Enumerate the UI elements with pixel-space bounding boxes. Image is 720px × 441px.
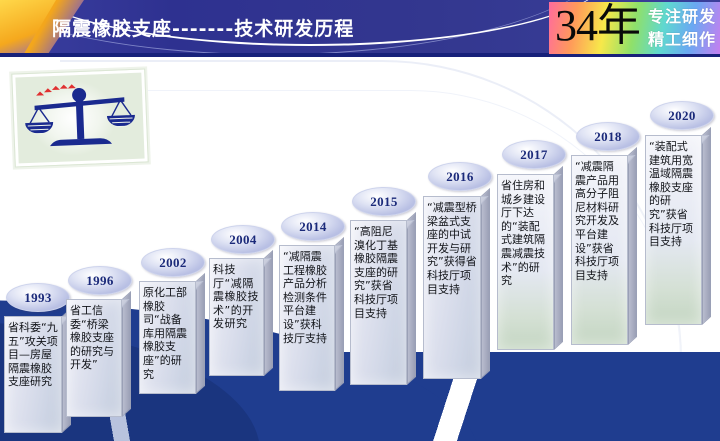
year-bubble-2016[interactable]: 2016 xyxy=(428,162,492,191)
year-label: 2018 xyxy=(594,129,622,145)
pillar-side xyxy=(407,212,416,385)
year-bubble-2004[interactable]: 2004 xyxy=(211,225,275,254)
pillar-text: “减隔震工程橡胶产品分析检测条件平台建设”获科技厅支持 xyxy=(283,250,331,345)
timeline-pillar-2002[interactable]: 原化工部橡胶司“战备库用隔震橡胶支座”的研究 xyxy=(139,281,196,394)
slide-canvas: 隔震橡胶支座-------技术研发历程 34年 专注研发 精工细作 xyxy=(0,0,720,441)
pillar-text: “减震隔震产品用高分子阻尼材料研究开发及平台建设”获省科技厅项目支持 xyxy=(575,160,624,282)
year-label: 1993 xyxy=(24,290,52,306)
year-bubble-2002[interactable]: 2002 xyxy=(141,248,205,277)
pillar-side xyxy=(481,188,490,379)
year-bubble-2015[interactable]: 2015 xyxy=(352,187,416,216)
year-label: 2020 xyxy=(668,108,696,124)
pillar-text: 省住房和城乡建设厅下达的“装配式建筑隔震减震技术”的研究 xyxy=(501,179,550,288)
year-label: 2004 xyxy=(229,232,257,248)
pillar-text: 省工信委“桥梁橡胶支座的研究与开发” xyxy=(70,304,118,372)
year-label: 2016 xyxy=(446,169,474,185)
timeline-pillar-2004[interactable]: 科技厅“减隔震橡胶技术”的开发研究 xyxy=(209,258,264,376)
pillar-text: “装配式建筑用宽温域隔震橡胶支座的研究”获省科技厅项目支持 xyxy=(649,140,698,249)
year-label: 2017 xyxy=(520,147,548,163)
timeline-pillar-1996[interactable]: 省工信委“桥梁橡胶支座的研究与开发” xyxy=(66,299,122,417)
badge-slogan: 专注研发 精工细作 xyxy=(648,5,716,51)
timeline-pillar-2016[interactable]: “减震型桥梁盆式支座的中试开发与研究”获得省科技厅项目支持 xyxy=(423,196,481,379)
pillar-side xyxy=(335,237,344,391)
timeline-pillar-2020[interactable]: “装配式建筑用宽温域隔震橡胶支座的研究”获省科技厅项目支持 xyxy=(645,135,702,325)
badge-slogan-line-1: 专注研发 xyxy=(648,5,716,28)
pillar-side xyxy=(196,273,205,394)
year-bubble-2018[interactable]: 2018 xyxy=(576,122,640,151)
anniversary-badge: 34年 专注研发 精工细作 xyxy=(549,2,720,54)
badge-years-number: 34年 xyxy=(555,2,640,52)
timeline-pillar-2017[interactable]: 省住房和城乡建设厅下达的“装配式建筑隔震减震技术”的研究 xyxy=(497,174,554,350)
year-bubble-2014[interactable]: 2014 xyxy=(281,212,345,241)
year-bubble-2017[interactable]: 2017 xyxy=(502,140,566,169)
year-label: 2015 xyxy=(370,194,398,210)
balance-scale-icon xyxy=(15,73,144,164)
badge-slogan-line-2: 精工细作 xyxy=(648,28,716,51)
timeline-pillar-2018[interactable]: “减震隔震产品用高分子阻尼材料研究开发及平台建设”获省科技厅项目支持 xyxy=(571,155,628,345)
year-bubble-2020[interactable]: 2020 xyxy=(650,101,714,130)
pillar-text: “高阻尼溴化丁基橡胶隔震支座的研究”获省科技厅项目支持 xyxy=(354,225,403,320)
balance-scale-picture xyxy=(12,70,147,167)
year-label: 2014 xyxy=(299,219,327,235)
pillar-side xyxy=(264,250,273,376)
pillar-text: 原化工部橡胶司“战备库用隔震橡胶支座”的研究 xyxy=(143,286,192,381)
timeline-pillar-2014[interactable]: “减隔震工程橡胶产品分析检测条件平台建设”获科技厅支持 xyxy=(279,245,335,391)
pillar-side xyxy=(702,127,711,325)
year-bubble-1996[interactable]: 1996 xyxy=(68,266,132,295)
pillar-text: “减震型桥梁盆式支座的中试开发与研究”获得省科技厅项目支持 xyxy=(427,201,477,296)
pillar-side xyxy=(554,166,563,350)
pillar-text: 科技厅“减隔震橡胶技术”的开发研究 xyxy=(213,263,260,331)
timeline-pillar-1993[interactable]: 省科委“九五”攻关项目—房屋隔震橡胶支座研究 xyxy=(4,316,62,433)
page-title: 隔震橡胶支座-------技术研发历程 xyxy=(52,14,354,41)
year-bubble-1993[interactable]: 1993 xyxy=(6,283,70,312)
pillar-side xyxy=(628,147,637,345)
pillar-text: 省科委“九五”攻关项目—房屋隔震橡胶支座研究 xyxy=(8,321,58,389)
year-label: 2002 xyxy=(159,255,187,271)
pillar-side xyxy=(122,291,131,417)
year-label: 1996 xyxy=(86,273,114,289)
timeline-pillar-2015[interactable]: “高阻尼溴化丁基橡胶隔震支座的研究”获省科技厅项目支持 xyxy=(350,220,407,385)
